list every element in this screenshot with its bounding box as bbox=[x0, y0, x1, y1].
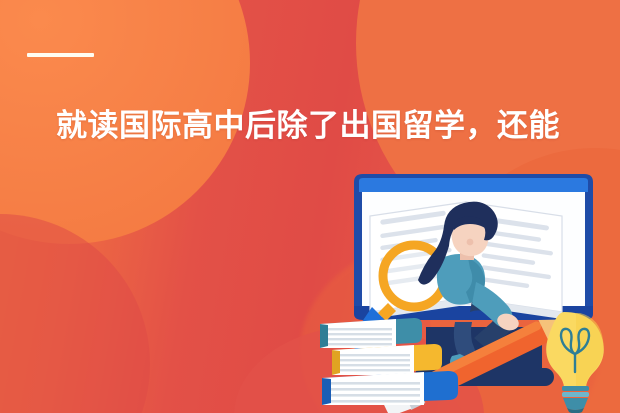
book-blue bbox=[322, 371, 458, 405]
promo-banner: 就读国际高中后除了出国留学，还能 bbox=[0, 0, 620, 413]
lightbulb-icon bbox=[546, 312, 604, 413]
decorative-rule bbox=[27, 53, 94, 57]
page-title: 就读国际高中后除了出国留学，还能 bbox=[56, 106, 560, 146]
book-yellow bbox=[332, 344, 442, 375]
book-teal bbox=[320, 318, 422, 348]
online-learning-illustration bbox=[318, 172, 620, 413]
